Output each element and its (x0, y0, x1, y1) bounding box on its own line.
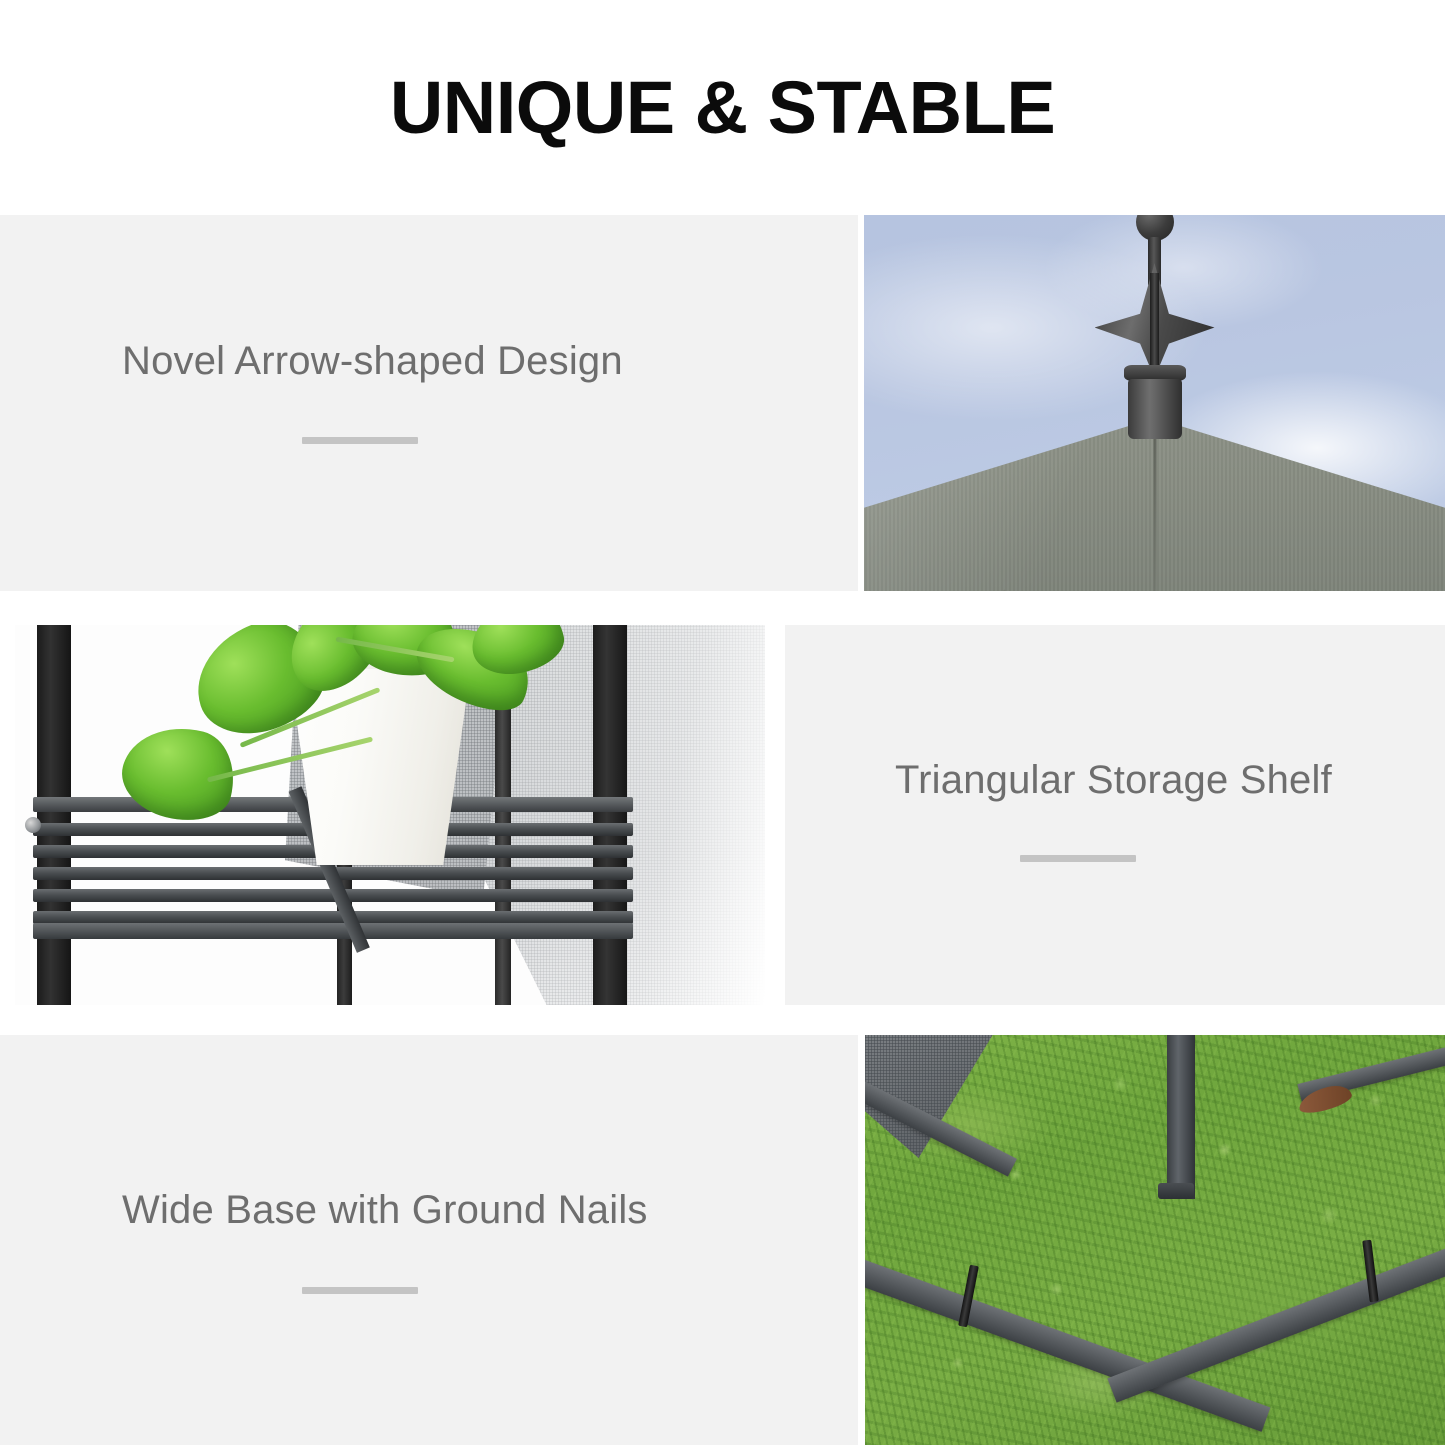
finial-sleeve (1128, 379, 1182, 439)
gazebo-leg-foot (1158, 1183, 1194, 1199)
storage-shelf-photo (15, 625, 765, 1005)
feature-text-panel-arrow-design (0, 215, 858, 591)
arrow-finial (1085, 215, 1225, 433)
shelf-scene (15, 625, 765, 1005)
feature-row-storage-shelf (0, 625, 1445, 1005)
shelf-front-rail (33, 923, 633, 939)
plant-stem (207, 737, 373, 783)
canopy-center-seam (1153, 418, 1156, 591)
feature-text-panel-storage-shelf (785, 625, 1445, 1005)
header-banner: UNIQUE & STABLE (0, 0, 1445, 215)
ground-nails-photo (865, 1035, 1445, 1445)
feature-caption-storage-shelf: Triangular Storage Shelf (895, 760, 1332, 800)
caption-divider (302, 1287, 418, 1294)
page-title: UNIQUE & STABLE (390, 71, 1055, 145)
gazebo-leg-post (1167, 1035, 1195, 1199)
feature-text-panel-ground-nails (0, 1035, 858, 1445)
caption-divider (302, 437, 418, 444)
pothos-plant (85, 625, 555, 837)
shelf-screw-icon (25, 817, 41, 833)
caption-divider (1020, 855, 1136, 862)
feature-row-ground-nails (0, 1035, 1445, 1445)
feature-caption-arrow-design: Novel Arrow-shaped Design (122, 341, 623, 381)
feature-caption-ground-nails: Wide Base with Ground Nails (122, 1190, 648, 1230)
feature-row-arrow-design (0, 215, 1445, 591)
finial-ornament-photo (864, 215, 1445, 591)
